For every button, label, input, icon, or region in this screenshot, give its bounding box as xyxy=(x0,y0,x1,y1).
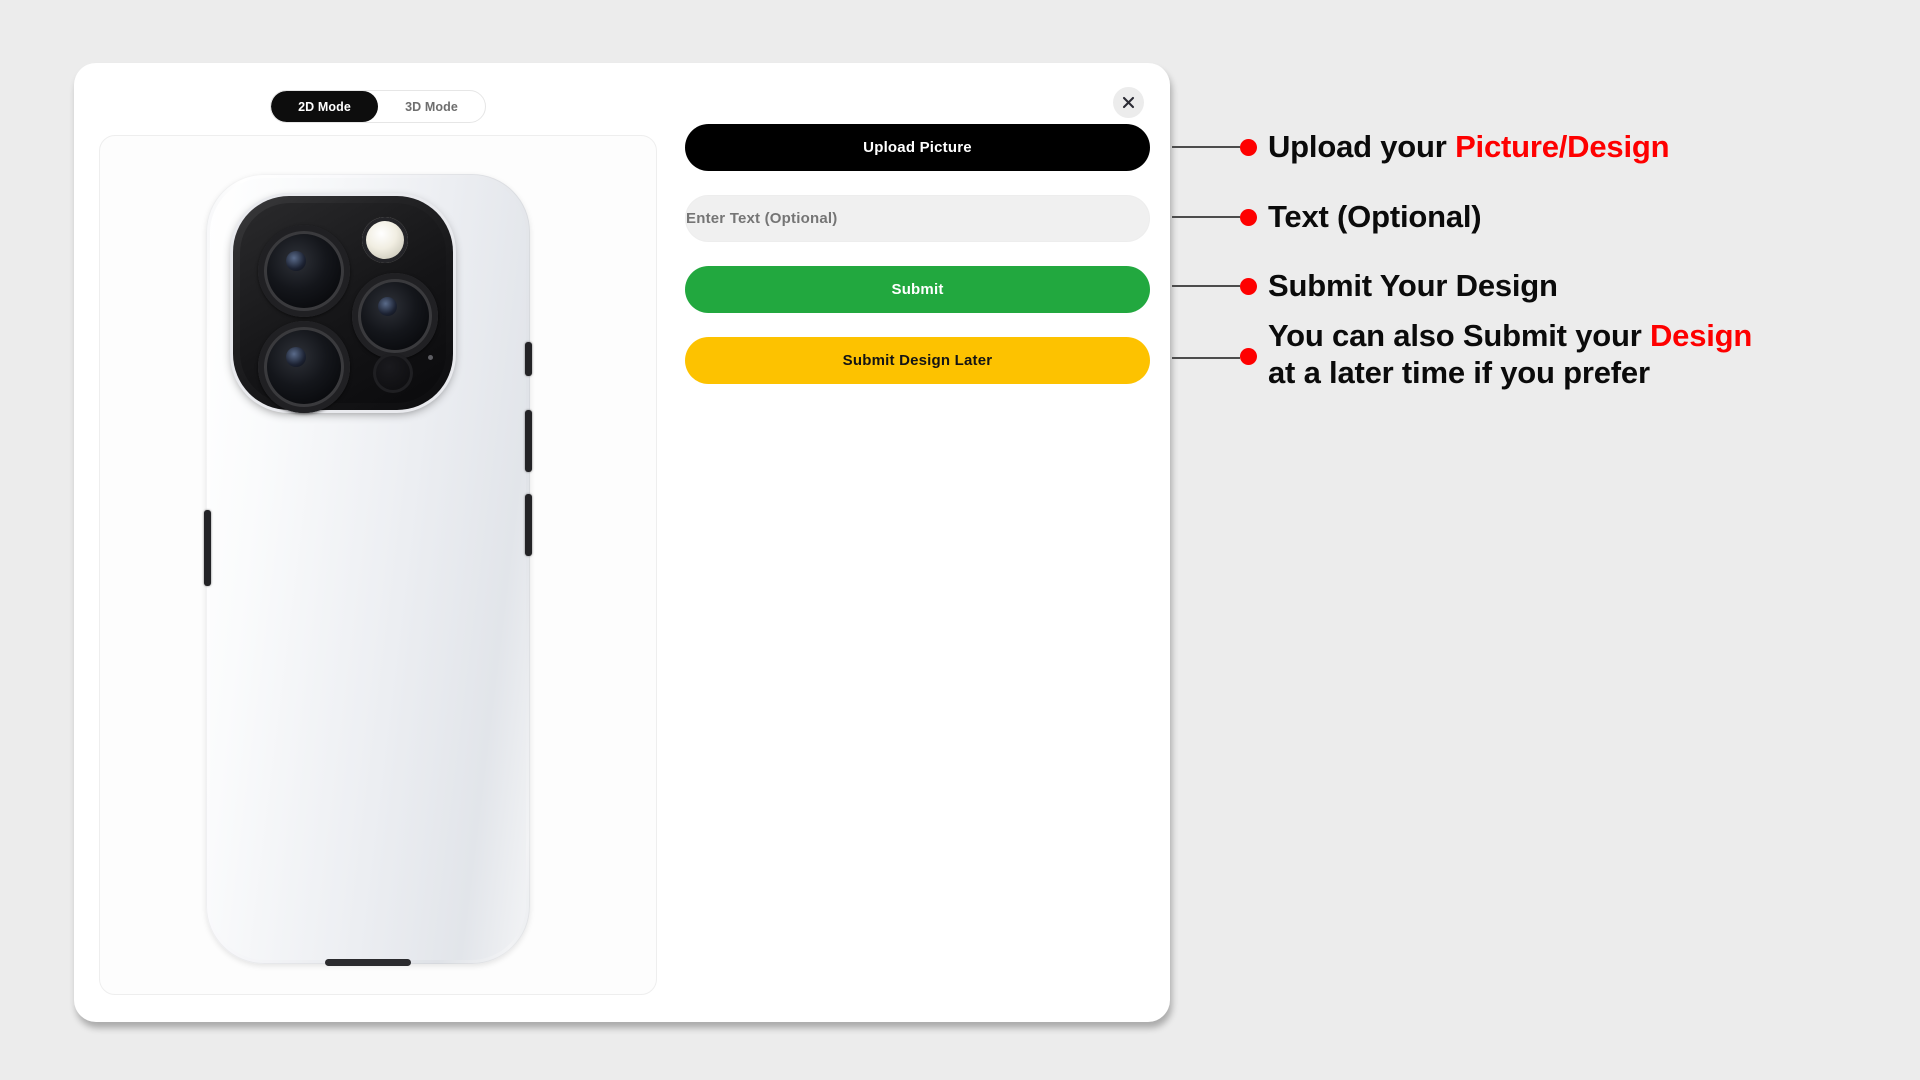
annotation-later-plain-1: You can also Submit your xyxy=(1268,318,1650,353)
close-icon xyxy=(1122,96,1135,109)
submit-design-later-button[interactable]: Submit Design Later xyxy=(685,337,1150,384)
phone-charging-port-cutout xyxy=(325,959,411,966)
annotation-leader-line xyxy=(1172,146,1240,148)
annotation-dot-icon xyxy=(1240,278,1257,295)
annotation-submit-later: You can also Submit your Designat a late… xyxy=(1172,339,1752,391)
annotation-text-field-text: Text (Optional) xyxy=(1268,199,1481,236)
text-input[interactable] xyxy=(685,195,1150,242)
annotation-upload-highlight: Picture/Design xyxy=(1455,129,1669,164)
phone-button-cutout-action xyxy=(525,342,532,376)
camera-flash-icon xyxy=(362,217,408,263)
annotation-submit-text: Submit Your Design xyxy=(1268,268,1558,305)
annotation-later-highlight: Design xyxy=(1650,318,1752,353)
annotation-text-field-plain: Text (Optional) xyxy=(1268,199,1481,234)
mode-toggle-label-3d: 3D Mode xyxy=(405,100,458,114)
camera-module-inner xyxy=(240,203,446,403)
camera-lens-right xyxy=(352,273,438,359)
camera-module xyxy=(233,196,453,410)
lidar-sensor-icon xyxy=(373,353,413,393)
phone-case-image xyxy=(206,174,530,964)
mode-toggle-option-2d[interactable]: 2D Mode xyxy=(271,91,378,122)
action-column: Upload Picture Submit Submit Design Late… xyxy=(685,124,1150,408)
annotation-upload: Upload your Picture/Design xyxy=(1172,129,1669,166)
design-upload-modal: 2D Mode 3D Mode xyxy=(74,63,1170,1022)
phone-button-cutout-volume-down xyxy=(525,494,532,556)
phone-button-cutout-left xyxy=(204,510,211,586)
annotation-text-field: Text (Optional) xyxy=(1172,199,1481,236)
submit-button[interactable]: Submit xyxy=(685,266,1150,313)
annotation-dot-icon xyxy=(1240,348,1257,365)
annotation-dot-icon xyxy=(1240,209,1257,226)
microphone-icon xyxy=(428,355,433,360)
close-button[interactable] xyxy=(1113,87,1144,118)
mode-toggle-label-2d: 2D Mode xyxy=(298,100,351,114)
product-preview-panel[interactable] xyxy=(99,135,657,995)
annotation-upload-text: Upload your Picture/Design xyxy=(1268,129,1669,166)
annotation-submit: Submit Your Design xyxy=(1172,268,1558,305)
annotation-dot-icon xyxy=(1240,139,1257,156)
upload-picture-button[interactable]: Upload Picture xyxy=(685,124,1150,171)
annotation-submit-plain: Submit Your Design xyxy=(1268,268,1558,303)
mode-toggle-option-3d[interactable]: 3D Mode xyxy=(378,91,485,122)
mode-toggle[interactable]: 2D Mode 3D Mode xyxy=(270,90,486,123)
annotation-submit-later-text: You can also Submit your Designat a late… xyxy=(1268,318,1752,391)
annotation-later-plain-2: at a later time if you prefer xyxy=(1268,355,1650,390)
camera-lens-top-left xyxy=(258,225,350,317)
phone-case-body xyxy=(206,174,530,964)
annotation-upload-plain: Upload your xyxy=(1268,129,1455,164)
annotation-leader-line xyxy=(1172,357,1240,359)
phone-button-cutout-volume-up xyxy=(525,410,532,472)
annotation-leader-line xyxy=(1172,216,1240,218)
annotation-leader-line xyxy=(1172,285,1240,287)
camera-lens-bottom-left xyxy=(258,321,350,413)
